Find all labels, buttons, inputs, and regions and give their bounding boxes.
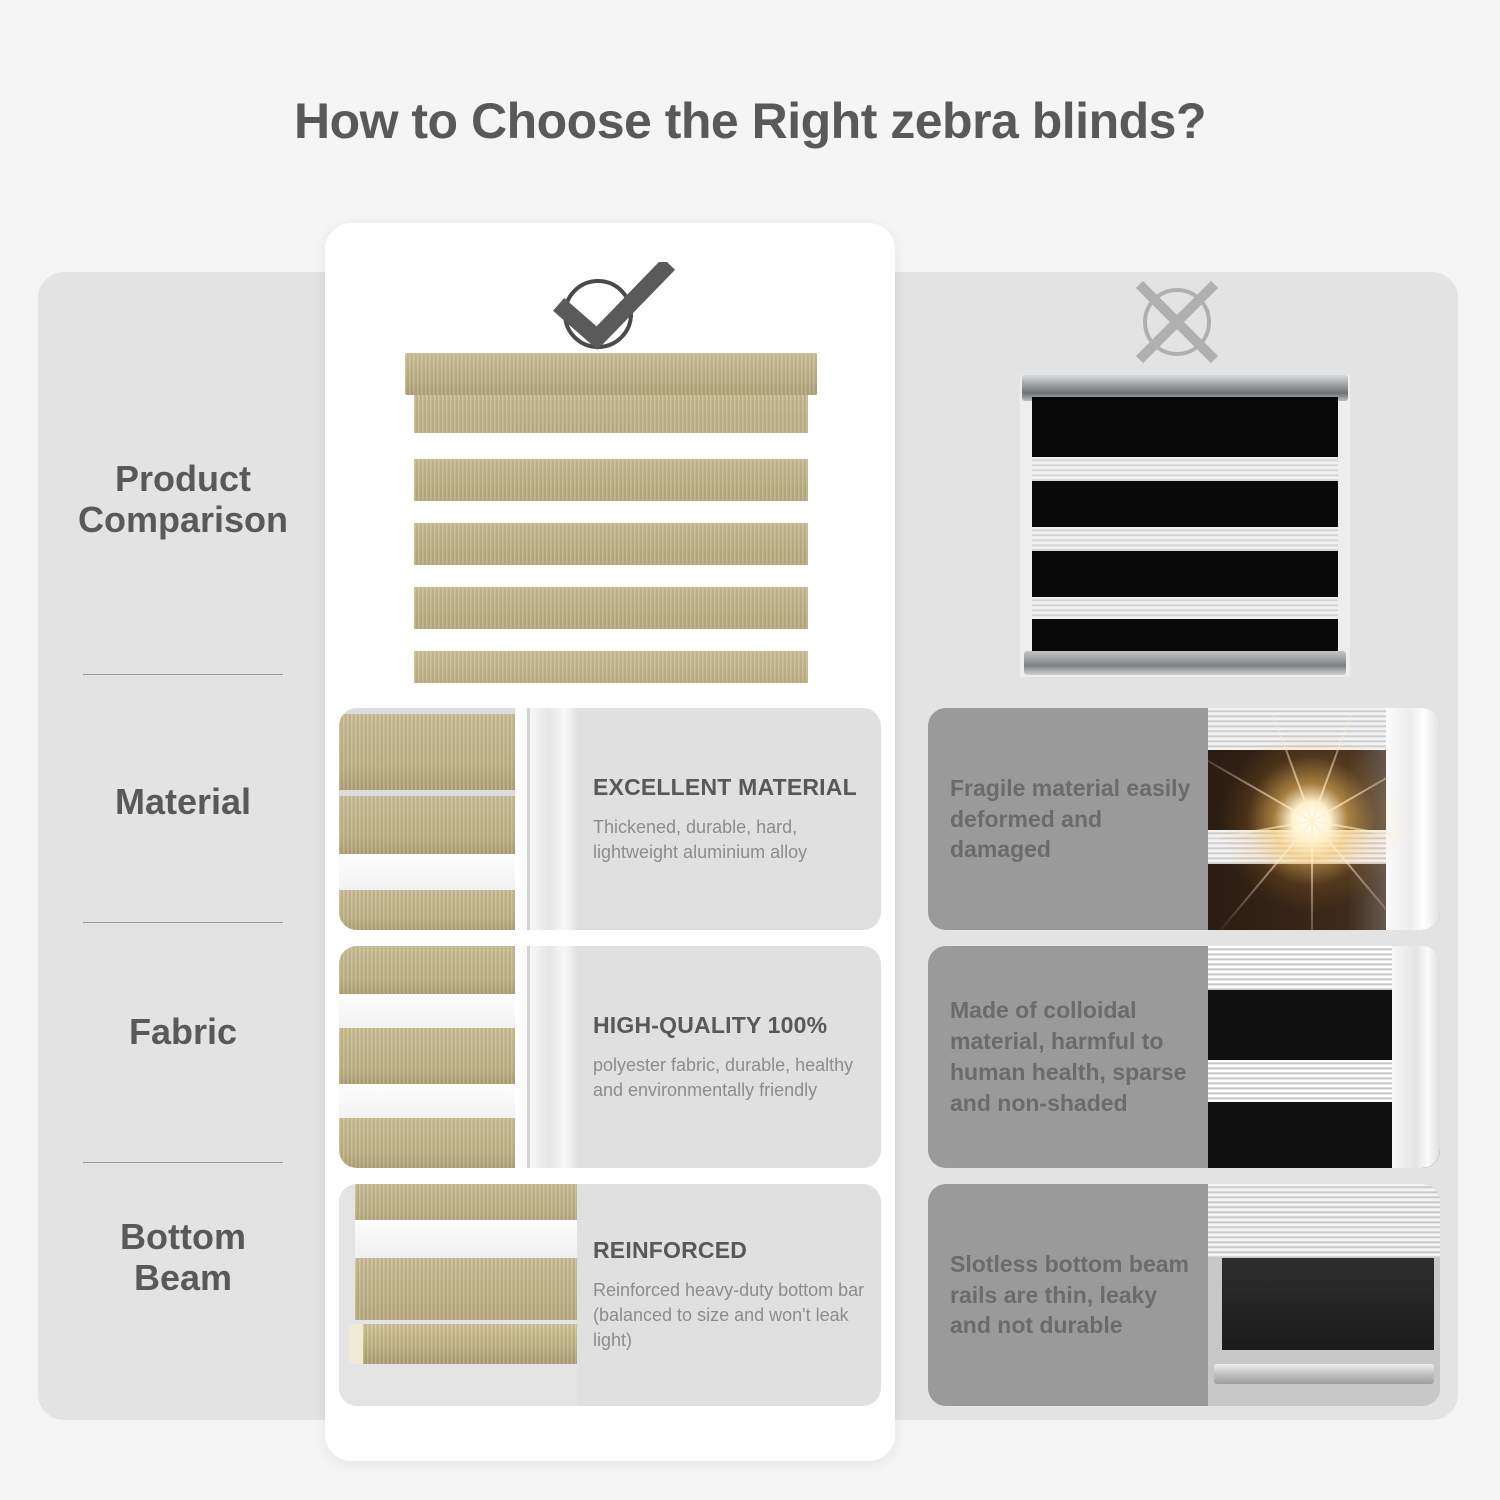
sidebar-item-product-comparison: ProductComparison — [38, 424, 328, 574]
page-title: How to Choose the Right zebra blinds? — [0, 92, 1500, 150]
infographic-page: How to Choose the Right zebra blinds? Pr… — [0, 0, 1500, 1500]
sidebar-item-bottom-beam: BottomBeam — [38, 1182, 328, 1332]
bad-row-text: Slotless bottom beam rails are thin, lea… — [950, 1249, 1200, 1341]
sidebar-label-material: Material — [115, 781, 251, 822]
sidebar-label-bottom-beam: BottomBeam — [120, 1216, 246, 1298]
bad-row-fabric: Made of colloidal material, harmful to h… — [928, 946, 1440, 1168]
sidebar-item-fabric: Fabric — [38, 972, 328, 1092]
bad-row-text: Fragile material easily deformed and dam… — [950, 773, 1200, 865]
sidebar-label-fabric: Fabric — [129, 1011, 237, 1052]
sidebar-divider — [83, 674, 283, 675]
bad-row-bottom-beam: Slotless bottom beam rails are thin, lea… — [928, 1184, 1440, 1406]
bad-row-material: Fragile material easily deformed and dam… — [928, 708, 1440, 930]
good-row-body: polyester fabric, durable, healthy and e… — [593, 1053, 865, 1103]
good-row-material: EXCELLENT MATERIAL Thickened, durable, h… — [339, 708, 881, 930]
reinforced-bottom-bar-image — [339, 1184, 577, 1406]
good-row-heading: HIGH-QUALITY 100% — [593, 1012, 865, 1039]
tan-fabric-closeup-image — [339, 946, 577, 1168]
thin-slotless-bottom-rail-image — [1208, 1184, 1440, 1406]
sparse-colloidal-fabric-image — [1208, 946, 1440, 1168]
light-leak-deformed-blind-image — [1208, 708, 1440, 930]
good-row-heading: EXCELLENT MATERIAL — [593, 774, 865, 801]
cross-circle-icon — [1122, 276, 1232, 364]
tan-blind-closeup-image — [339, 708, 577, 930]
good-row-fabric: HIGH-QUALITY 100% polyester fabric, dura… — [339, 946, 881, 1168]
good-row-heading: REINFORCED — [593, 1237, 865, 1264]
tan-zebra-blind-image — [405, 353, 817, 698]
category-sidebar: ProductComparison Material Fabric Bottom… — [38, 272, 328, 1420]
check-circle-icon — [545, 262, 675, 357]
good-product-card: EXCELLENT MATERIAL Thickened, durable, h… — [325, 223, 895, 1461]
bad-row-text: Made of colloidal material, harmful to h… — [950, 995, 1200, 1118]
sidebar-divider — [83, 922, 283, 923]
sidebar-label-product-comparison: ProductComparison — [78, 458, 288, 540]
sidebar-divider — [83, 1162, 283, 1163]
good-row-body: Reinforced heavy-duty bottom bar (balanc… — [593, 1278, 865, 1352]
good-row-bottom-beam: REINFORCED Reinforced heavy-duty bottom … — [339, 1184, 881, 1406]
good-row-body: Thickened, durable, hard, lightweight al… — [593, 815, 865, 865]
black-zebra-blind-image — [1020, 375, 1350, 677]
sidebar-item-material: Material — [38, 742, 328, 862]
bad-product-column: Fragile material easily deformed and dam… — [910, 265, 1458, 1423]
